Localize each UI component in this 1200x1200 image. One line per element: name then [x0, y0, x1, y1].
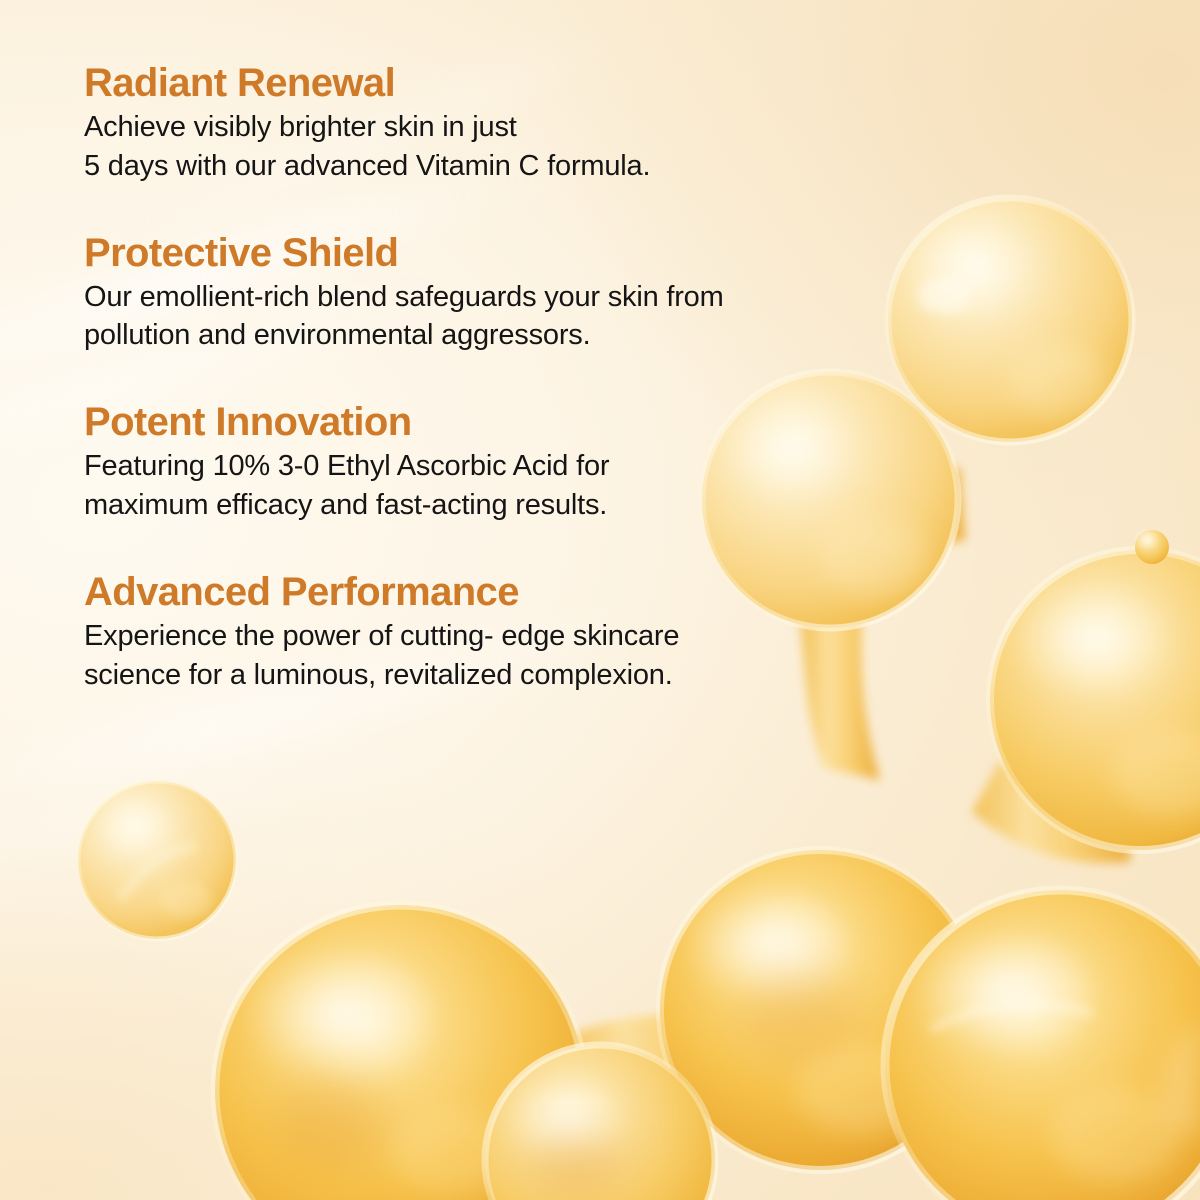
benefit-block-potent-innovation: Potent Innovation Featuring 10% 3-0 Ethy…	[84, 401, 914, 525]
benefit-body-line: 5 days with our advanced Vitamin C formu…	[84, 147, 914, 186]
benefits-list: Radiant Renewal Achieve visibly brighter…	[84, 62, 914, 694]
benefit-title: Radiant Renewal	[84, 62, 914, 104]
benefit-body-line: science for a luminous, revitalized comp…	[84, 656, 914, 695]
benefit-body-line: Experience the power of cutting- edge sk…	[84, 617, 914, 656]
benefit-body: Achieve visibly brighter skin in just 5 …	[84, 108, 914, 185]
benefit-body: Featuring 10% 3-0 Ethyl Ascorbic Acid fo…	[84, 447, 914, 524]
benefit-body-line: pollution and environmental aggressors.	[84, 316, 914, 355]
benefit-body-line: maximum efficacy and fast-acting results…	[84, 486, 914, 525]
benefit-block-radiant-renewal: Radiant Renewal Achieve visibly brighter…	[84, 62, 914, 186]
benefit-body: Our emollient-rich blend safeguards your…	[84, 278, 914, 355]
benefit-body-line: Our emollient-rich blend safeguards your…	[84, 278, 914, 317]
benefit-title: Advanced Performance	[84, 571, 914, 613]
benefit-block-advanced-performance: Advanced Performance Experience the powe…	[84, 571, 914, 695]
poster-canvas: Radiant Renewal Achieve visibly brighter…	[0, 0, 1200, 1200]
benefit-body-line: Achieve visibly brighter skin in just	[84, 108, 914, 147]
benefit-title: Protective Shield	[84, 232, 914, 274]
benefit-body: Experience the power of cutting- edge sk…	[84, 617, 914, 694]
benefit-block-protective-shield: Protective Shield Our emollient-rich ble…	[84, 232, 914, 356]
benefit-title: Potent Innovation	[84, 401, 914, 443]
benefit-body-line: Featuring 10% 3-0 Ethyl Ascorbic Acid fo…	[84, 447, 914, 486]
